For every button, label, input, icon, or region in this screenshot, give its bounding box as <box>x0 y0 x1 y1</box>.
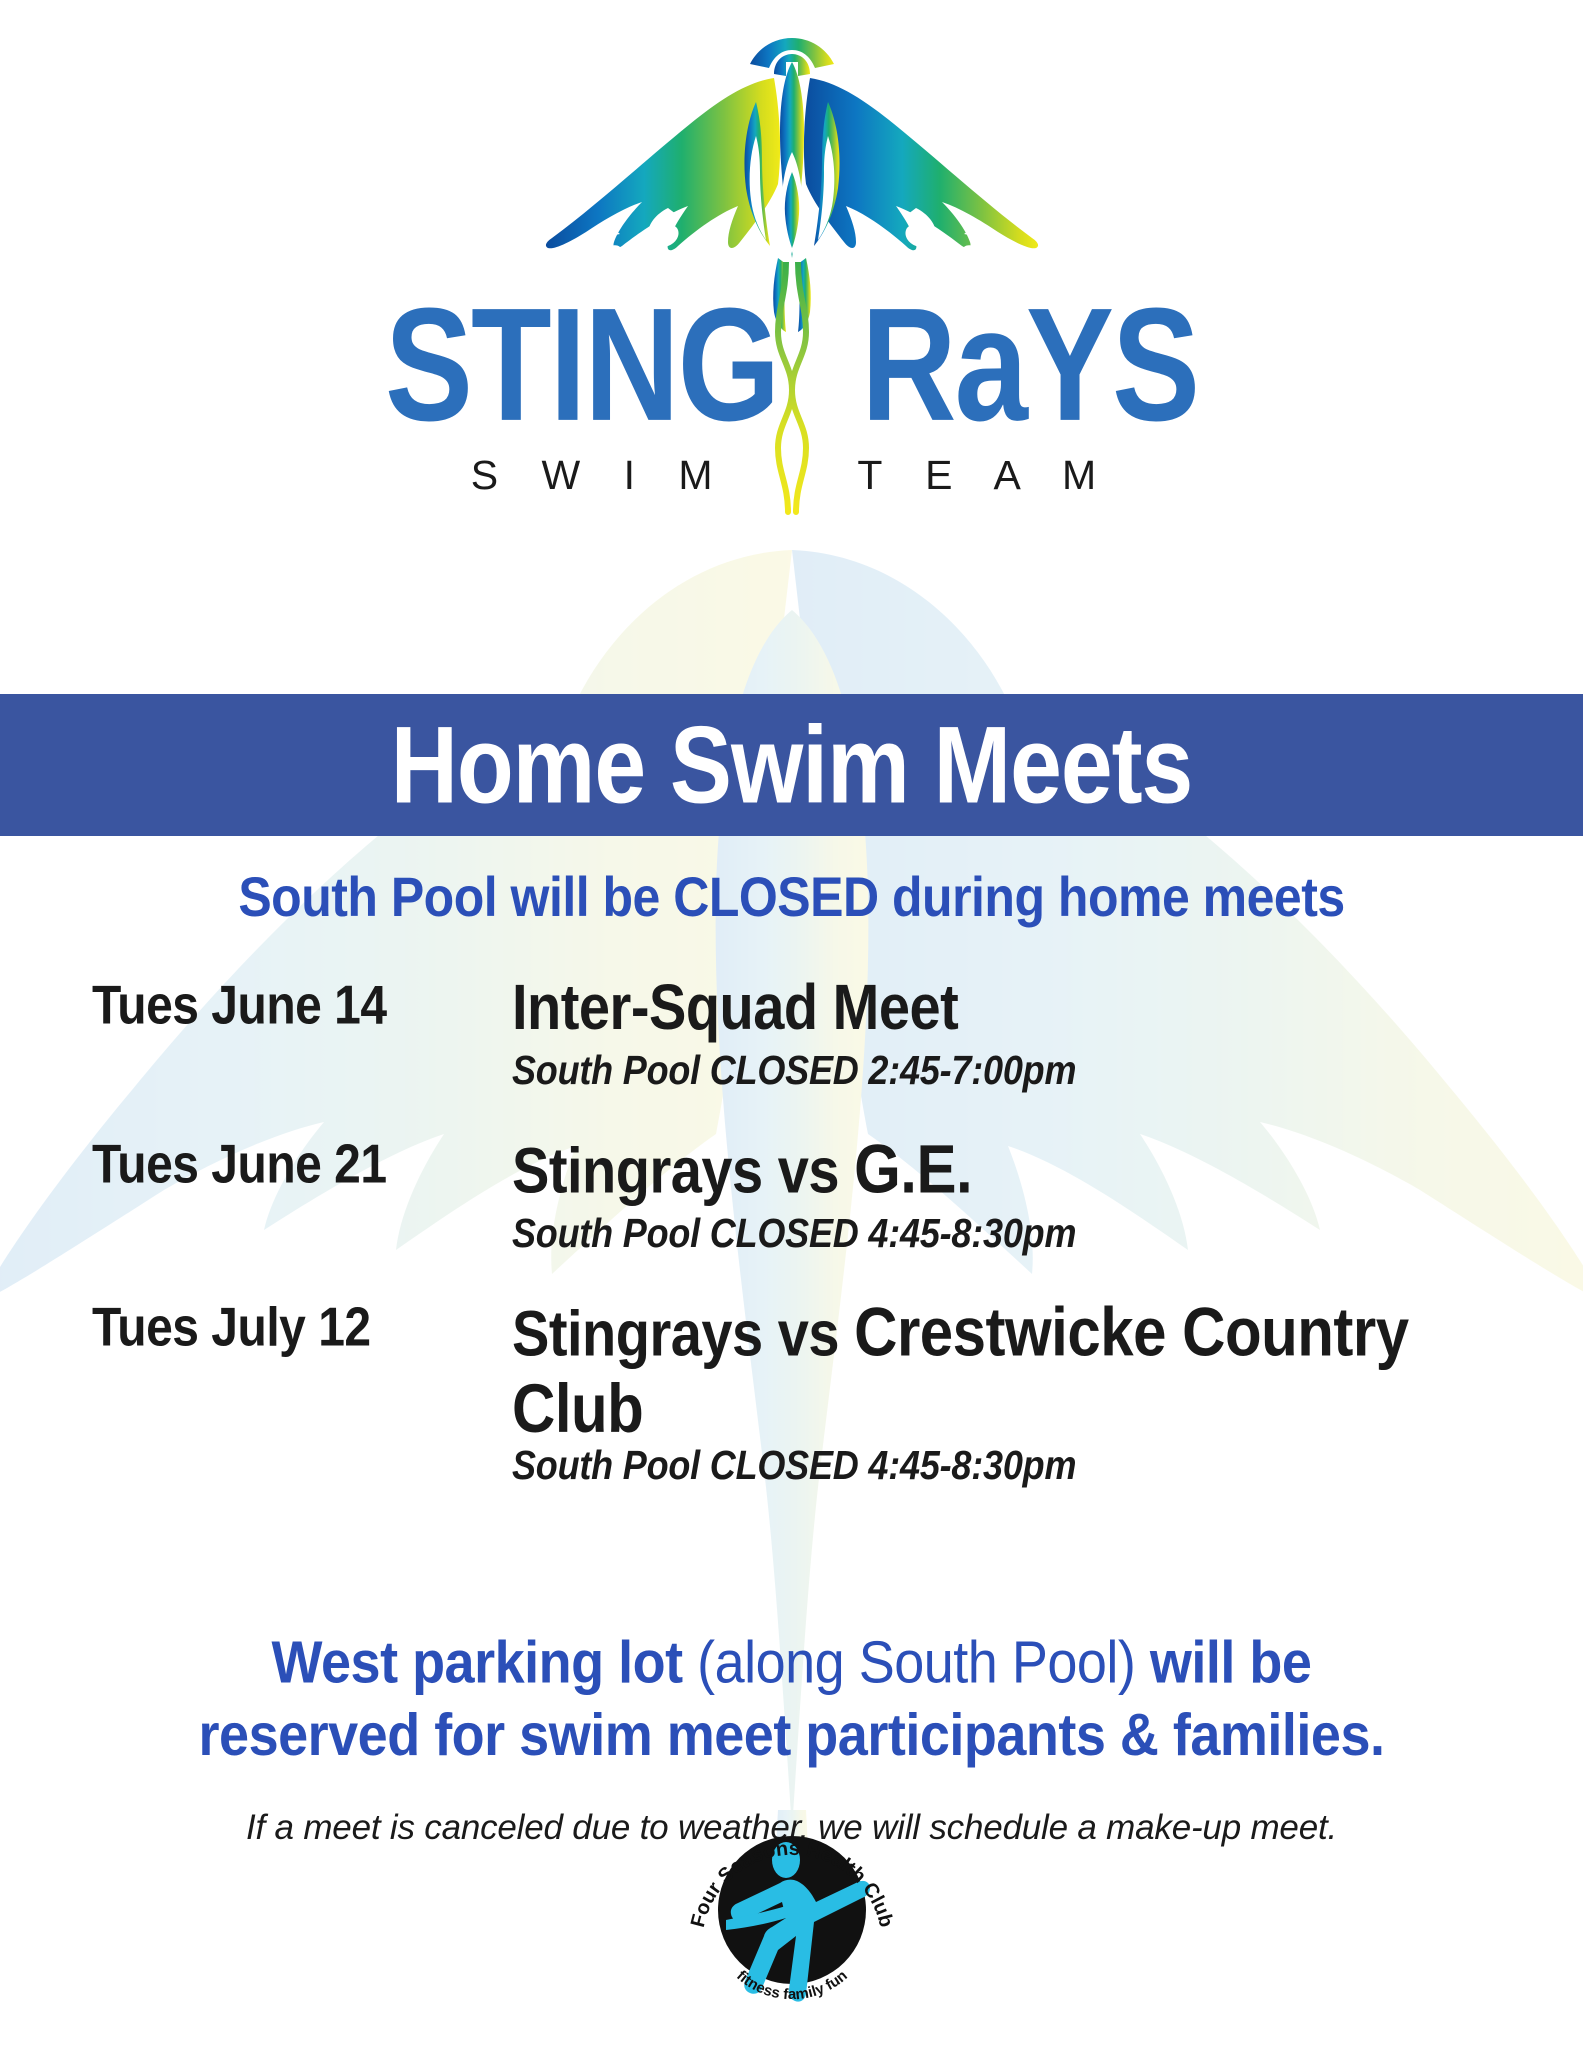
meet-name-prefix: Stingrays vs <box>512 1134 854 1206</box>
meet-row: Tues June 14 Inter-Squad Meet South Pool… <box>92 972 1543 1089</box>
meet-name: Stingrays vs G.E. <box>512 1131 1543 1208</box>
meet-date: Tues June 21 <box>92 1126 512 1196</box>
meet-details: Inter-Squad Meet South Pool CLOSED 2:45-… <box>512 972 1543 1089</box>
meet-name-prefix: Stingrays vs <box>512 1297 854 1369</box>
main-content: South Pool will be CLOSED during home me… <box>0 836 1583 1848</box>
parking-line1-regular: (along South Pool) <box>683 1630 1150 1696</box>
tagline-team: T E A M <box>857 452 1112 499</box>
banner-title: Home Swim Meets <box>391 702 1193 828</box>
meet-details: Stingrays vs Crestwicke Country Club Sou… <box>512 1294 1543 1484</box>
meet-name: Inter-Squad Meet <box>512 972 1543 1043</box>
parking-line1-bold: West parking lot <box>272 1630 683 1696</box>
meet-row: Tues June 21 Stingrays vs G.E. South Poo… <box>92 1131 1543 1252</box>
four-seasons-health-club-logo-icon: Four Seasons Health Club fitness family … <box>682 1798 902 2018</box>
parking-line2-bold: reserved for swim meet participants & fa… <box>199 1702 1385 1768</box>
meet-name: Stingrays vs Crestwicke Country Club <box>512 1294 1543 1447</box>
stingray-tail-icon <box>762 262 822 522</box>
wordmark-sting: STING <box>385 286 778 445</box>
stingrays-wordmark: STING RaYS S W I M <box>0 300 1583 500</box>
pool-closed-notice: South Pool will be CLOSED during home me… <box>0 865 1583 930</box>
meet-closure-time: South Pool CLOSED 4:45-8:30pm <box>512 1210 1543 1257</box>
wordmark-rays: RaYS <box>861 286 1198 445</box>
meet-opponent: G.E. <box>854 1131 972 1207</box>
parking-line1-bold-tail: will be <box>1150 1630 1312 1696</box>
flyer-page: STING RaYS S W I M <box>0 0 1583 2048</box>
meet-details: Stingrays vs G.E. South Pool CLOSED 4:45… <box>512 1131 1543 1252</box>
home-swim-meets-banner: Home Swim Meets <box>0 694 1583 836</box>
meet-closure-time: South Pool CLOSED 2:45-7:00pm <box>512 1047 1543 1094</box>
meet-date: Tues June 14 <box>92 968 512 1038</box>
meet-row: Tues July 12 Stingrays vs Crestwicke Cou… <box>92 1294 1543 1484</box>
meet-date: Tues July 12 <box>92 1290 512 1360</box>
wordmark-row: STING RaYS <box>0 300 1583 430</box>
meet-schedule-list: Tues June 14 Inter-Squad Meet South Pool… <box>0 972 1583 1484</box>
parking-notice: West parking lot (along South Pool) will… <box>0 1628 1583 1773</box>
tagline-swim: S W I M <box>471 452 729 499</box>
meet-closure-time: South Pool CLOSED 4:45-8:30pm <box>512 1442 1543 1489</box>
